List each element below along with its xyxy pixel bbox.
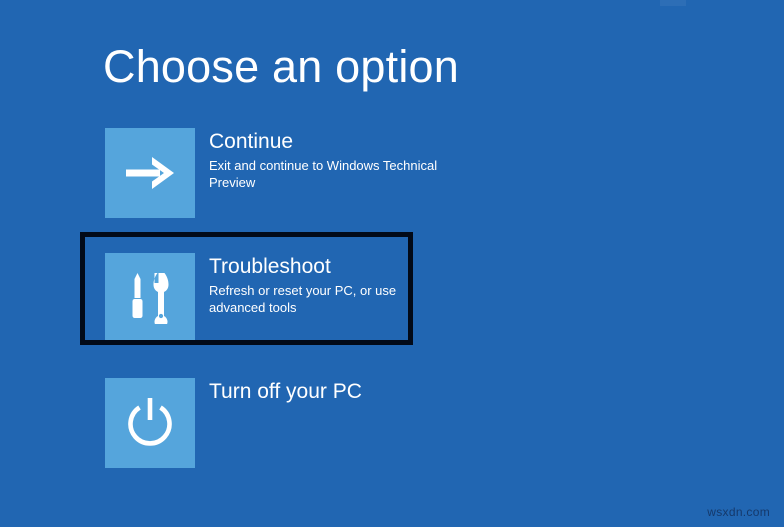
- option-continue[interactable]: Continue Exit and continue to Windows Te…: [105, 128, 525, 218]
- option-turn-off-pc-title: Turn off your PC: [209, 379, 362, 405]
- option-troubleshoot-description: Refresh or reset your PC, or use advance…: [209, 282, 441, 316]
- option-troubleshoot[interactable]: Troubleshoot Refresh or reset your PC, o…: [105, 253, 525, 343]
- option-troubleshoot-text: Troubleshoot Refresh or reset your PC, o…: [209, 253, 441, 316]
- screwdriver-wrench-icon: [125, 272, 175, 324]
- option-continue-text: Continue Exit and continue to Windows Te…: [209, 128, 441, 191]
- option-troubleshoot-tile[interactable]: [105, 253, 195, 343]
- recovery-choose-option-screen: Choose an option Continue Exit and conti…: [0, 0, 784, 527]
- arrow-right-icon: [124, 152, 176, 194]
- option-continue-tile[interactable]: [105, 128, 195, 218]
- power-icon: [123, 396, 177, 450]
- option-list: Continue Exit and continue to Windows Te…: [105, 128, 525, 503]
- option-turn-off-pc[interactable]: Turn off your PC: [105, 378, 525, 468]
- capture-artifact: [660, 0, 686, 6]
- option-continue-description: Exit and continue to Windows Technical P…: [209, 157, 441, 191]
- option-troubleshoot-title: Troubleshoot: [209, 254, 441, 280]
- page-title: Choose an option: [103, 40, 459, 94]
- option-turn-off-pc-tile[interactable]: [105, 378, 195, 468]
- option-continue-title: Continue: [209, 129, 441, 155]
- option-turn-off-pc-text: Turn off your PC: [209, 378, 362, 405]
- watermark: wsxdn.com: [707, 505, 770, 519]
